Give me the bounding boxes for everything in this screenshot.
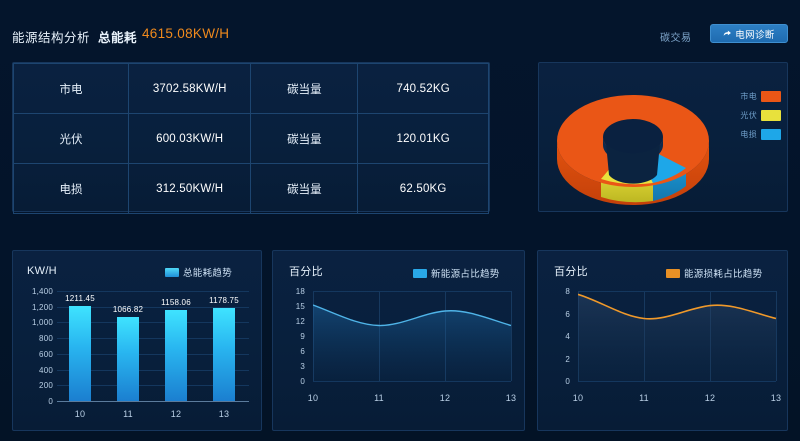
- legend-label: 光伏: [735, 110, 757, 121]
- x-tick: 10: [60, 409, 100, 419]
- gridline: [57, 291, 249, 292]
- x-tick: 11: [361, 393, 397, 403]
- x-tick: 10: [560, 393, 596, 403]
- legend-swatch-renewable: [413, 269, 427, 278]
- x-tick: 12: [427, 393, 463, 403]
- y-tick: 18: [279, 287, 305, 296]
- legend-label: 电损: [735, 129, 757, 140]
- y-tick: 600: [17, 350, 53, 359]
- bar-11[interactable]: [117, 317, 139, 401]
- y-tick: 9: [279, 332, 305, 341]
- y-tick: 12: [279, 317, 305, 326]
- table-row: 市电 3702.58KW/H 碳当量 740.52KG: [14, 64, 489, 114]
- legend-label: 市电: [735, 91, 757, 102]
- cell-energy: 3702.58KW/H: [128, 64, 251, 114]
- legend-label: 新能源占比趋势: [431, 266, 500, 280]
- legend-swatch-loss: [761, 129, 781, 140]
- y-tick: 0: [17, 397, 53, 406]
- area-series-renewable: [313, 291, 512, 382]
- bar-value-12: 1158.06: [150, 298, 202, 307]
- energy-mix-donut-panel: 市电 光伏 电损: [538, 62, 788, 212]
- y-tick: 6: [279, 347, 305, 356]
- carbon-trade-link[interactable]: 碳交易: [660, 29, 692, 44]
- y-tick: 1,400: [17, 287, 53, 296]
- renewable-share-area-panel: 百分比 新能源占比趋势 18 15 12 9 6 3 0: [272, 250, 525, 431]
- x-tick: 11: [108, 409, 148, 419]
- line-series-loss-share: [578, 291, 777, 382]
- legend-swatch-loss-share: [666, 269, 680, 278]
- page-title: 能源结构分析: [12, 27, 90, 46]
- cell-energy: 600.03KW/H: [128, 114, 251, 164]
- bar-legend[interactable]: 总能耗趋势: [165, 265, 232, 279]
- y-tick: 1,000: [17, 318, 53, 327]
- y-tick: 2: [544, 355, 570, 364]
- area-legend[interactable]: 新能源占比趋势: [413, 266, 500, 280]
- legend-swatch-total-energy: [165, 268, 179, 277]
- energy-structure-table: 市电 3702.58KW/H 碳当量 740.52KG 光伏 600.03KW/…: [13, 63, 489, 214]
- bar-value-11: 1066.82: [102, 305, 154, 314]
- y-tick: 6: [544, 310, 570, 319]
- donut-chart: [545, 71, 720, 205]
- y-tick: 400: [17, 366, 53, 375]
- cell-source: 电损: [14, 164, 129, 214]
- y-tick: 200: [17, 381, 53, 390]
- line-legend[interactable]: 能源损耗占比趋势: [666, 266, 762, 280]
- legend-item-mains[interactable]: 市电: [735, 91, 781, 102]
- x-axis-line: [57, 401, 249, 402]
- y-tick: 15: [279, 302, 305, 311]
- cell-source: 光伏: [14, 114, 129, 164]
- bar-y-unit: KW/H: [27, 265, 57, 277]
- y-tick: 3: [279, 362, 305, 371]
- x-tick: 10: [295, 393, 331, 403]
- area-y-unit: 百分比: [289, 263, 323, 279]
- grid-diagnosis-button-label: 电网诊断: [735, 27, 775, 41]
- cell-carbon-value: 740.52KG: [358, 64, 489, 114]
- bar-value-10: 1211.45: [54, 294, 106, 303]
- total-energy-label: 总能耗: [98, 27, 137, 46]
- cell-carbon-label: 碳当量: [251, 114, 358, 164]
- x-tick: 12: [156, 409, 196, 419]
- line-y-unit: 百分比: [554, 263, 588, 279]
- bar-value-13: 1178.75: [198, 296, 250, 305]
- energy-loss-share-line-panel: 百分比 能源损耗占比趋势 8 6 4 2 0 10 11 12: [537, 250, 788, 431]
- x-tick: 13: [493, 393, 529, 403]
- x-tick: 12: [692, 393, 728, 403]
- x-tick: 11: [626, 393, 662, 403]
- table-row: 电损 312.50KW/H 碳当量 62.50KG: [14, 164, 489, 214]
- x-tick: 13: [758, 393, 794, 403]
- cell-carbon-label: 碳当量: [251, 64, 358, 114]
- cell-source: 市电: [14, 64, 129, 114]
- grid-diagnosis-button[interactable]: 电网诊断: [710, 24, 788, 43]
- y-tick: 4: [544, 332, 570, 341]
- share-arrow-icon: [723, 29, 732, 38]
- dashboard-page: 能源结构分析 总能耗 4615.08KW/H 碳交易 电网诊断 市电 3702.…: [0, 0, 800, 441]
- energy-structure-table-panel: 市电 3702.58KW/H 碳当量 740.52KG 光伏 600.03KW/…: [12, 62, 490, 212]
- y-tick: 0: [544, 377, 570, 386]
- x-tick: 13: [204, 409, 244, 419]
- legend-item-pv[interactable]: 光伏: [735, 110, 781, 121]
- total-energy-bar-panel: KW/H 总能耗趋势 1,400 1,200 1,000 800 600 400…: [12, 250, 262, 431]
- y-tick: 800: [17, 334, 53, 343]
- legend-label: 总能耗趋势: [183, 265, 232, 279]
- bar-13[interactable]: [213, 308, 235, 401]
- bar-10[interactable]: [69, 306, 91, 401]
- table-row: 光伏 600.03KW/H 碳当量 120.01KG: [14, 114, 489, 164]
- legend-swatch-pv: [761, 110, 781, 121]
- cell-energy: 312.50KW/H: [128, 164, 251, 214]
- cell-carbon-value: 62.50KG: [358, 164, 489, 214]
- legend-item-loss[interactable]: 电损: [735, 129, 781, 140]
- y-tick: 0: [279, 377, 305, 386]
- page-header: 能源结构分析 总能耗 4615.08KW/H 碳交易 电网诊断: [0, 0, 800, 56]
- legend-swatch-mains: [761, 91, 781, 102]
- y-tick: 1,200: [17, 303, 53, 312]
- cell-carbon-label: 碳当量: [251, 164, 358, 214]
- bar-12[interactable]: [165, 310, 187, 401]
- donut-legend: 市电 光伏 电损: [735, 91, 781, 140]
- y-tick: 8: [544, 287, 570, 296]
- cell-carbon-value: 120.01KG: [358, 114, 489, 164]
- legend-label: 能源损耗占比趋势: [684, 266, 762, 280]
- total-energy-value: 4615.08KW/H: [142, 26, 229, 41]
